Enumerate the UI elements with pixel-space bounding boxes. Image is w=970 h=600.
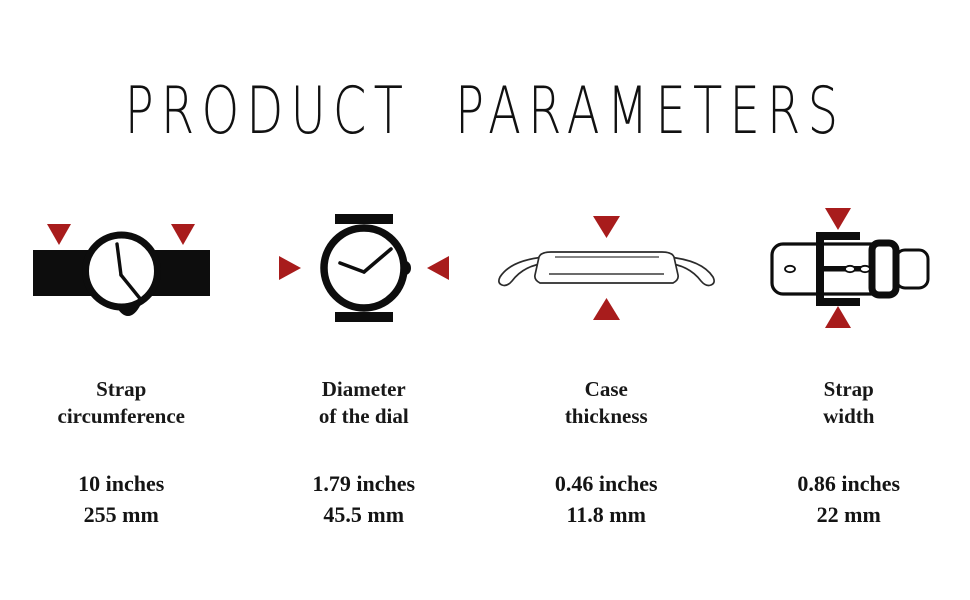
parameter-column-dial-diameter: Diameter of the dial 1.79 inches 45.5 mm [243,208,486,530]
parameter-column-strap-width: Strap width 0.86 inches 22 mm [728,208,970,530]
parameter-label: Strap circumference [58,376,186,430]
parameter-column-case-thickness: Case thickness 0.46 inches 11.8 mm [485,208,728,530]
parameter-label: Strap width [823,376,874,430]
icon-container [6,208,236,328]
value-inches: 10 inches [78,468,164,499]
value-mm: 45.5 mm [312,499,415,530]
icon-container [249,208,479,328]
page-title: PRODUCT PARAMETERS [97,78,873,145]
parameters-row: Strap circumference 10 inches 255 mm [0,208,970,530]
parameter-column-strap-circumference: Strap circumference 10 inches 255 mm [0,208,243,530]
watch-strap-width-icon [746,206,951,331]
parameter-value: 0.86 inches 22 mm [797,468,900,530]
product-parameters-infographic: PRODUCT PARAMETERS [0,0,970,600]
parameter-value: 0.46 inches 11.8 mm [555,468,658,530]
icon-container [491,208,721,328]
parameter-value: 1.79 inches 45.5 mm [312,468,415,530]
value-inches: 0.86 inches [797,468,900,499]
parameter-value: 10 inches 255 mm [78,468,164,530]
icon-container [734,208,964,328]
value-mm: 255 mm [78,499,164,530]
value-mm: 22 mm [797,499,900,530]
parameter-label: Diameter of the dial [319,376,409,430]
value-inches: 0.46 inches [555,468,658,499]
watch-case-thickness-icon [499,208,714,328]
watch-strap-circumference-icon [19,208,224,328]
value-mm: 11.8 mm [555,499,658,530]
watch-dial-diameter-icon [261,208,466,328]
parameter-label: Case thickness [565,376,648,430]
value-inches: 1.79 inches [312,468,415,499]
